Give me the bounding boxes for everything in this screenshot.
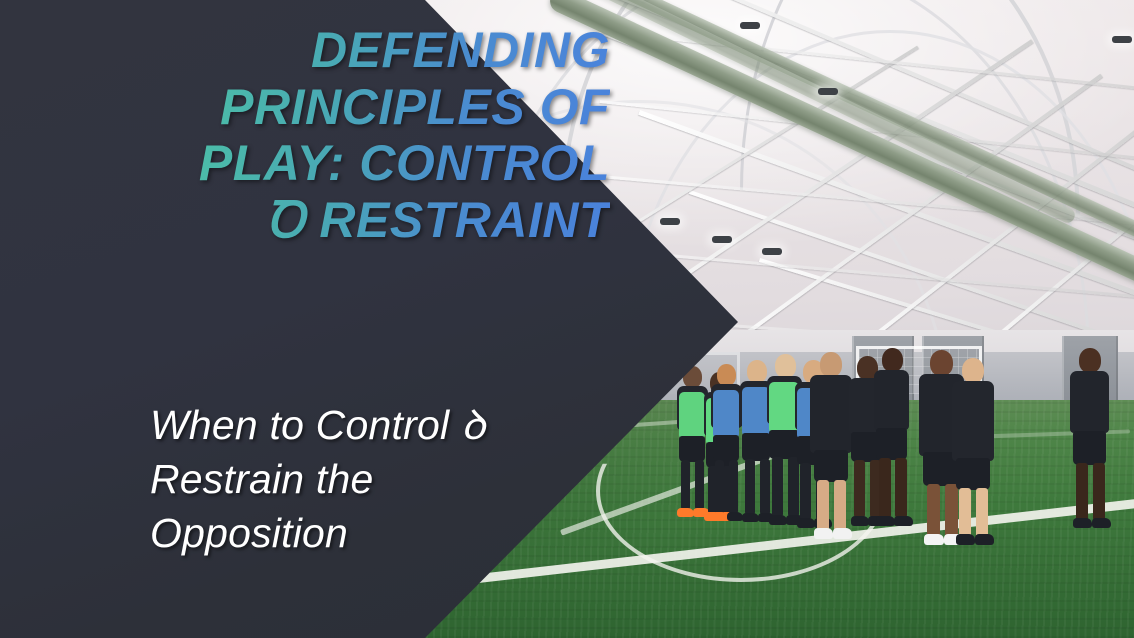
slide-canvas: DEFENDING PRINCIPLES OF PLAY: CONTROL ꝺ … bbox=[0, 0, 1134, 638]
player-figure bbox=[870, 348, 914, 538]
player-figure bbox=[1066, 348, 1114, 540]
ceiling-lamp bbox=[818, 88, 838, 95]
page-subtitle: When to Control ꝺ Restrain the Oppositio… bbox=[150, 398, 630, 560]
coach-figure bbox=[948, 358, 998, 548]
ceiling-lamp bbox=[660, 218, 680, 225]
ceiling-lamp bbox=[740, 22, 760, 29]
ceiling-lamp bbox=[1112, 36, 1132, 43]
page-title: DEFENDING PRINCIPLES OF PLAY: CONTROL ꝺ … bbox=[62, 22, 610, 248]
ceiling-lamp bbox=[762, 248, 782, 255]
ceiling-lamp bbox=[712, 236, 732, 243]
